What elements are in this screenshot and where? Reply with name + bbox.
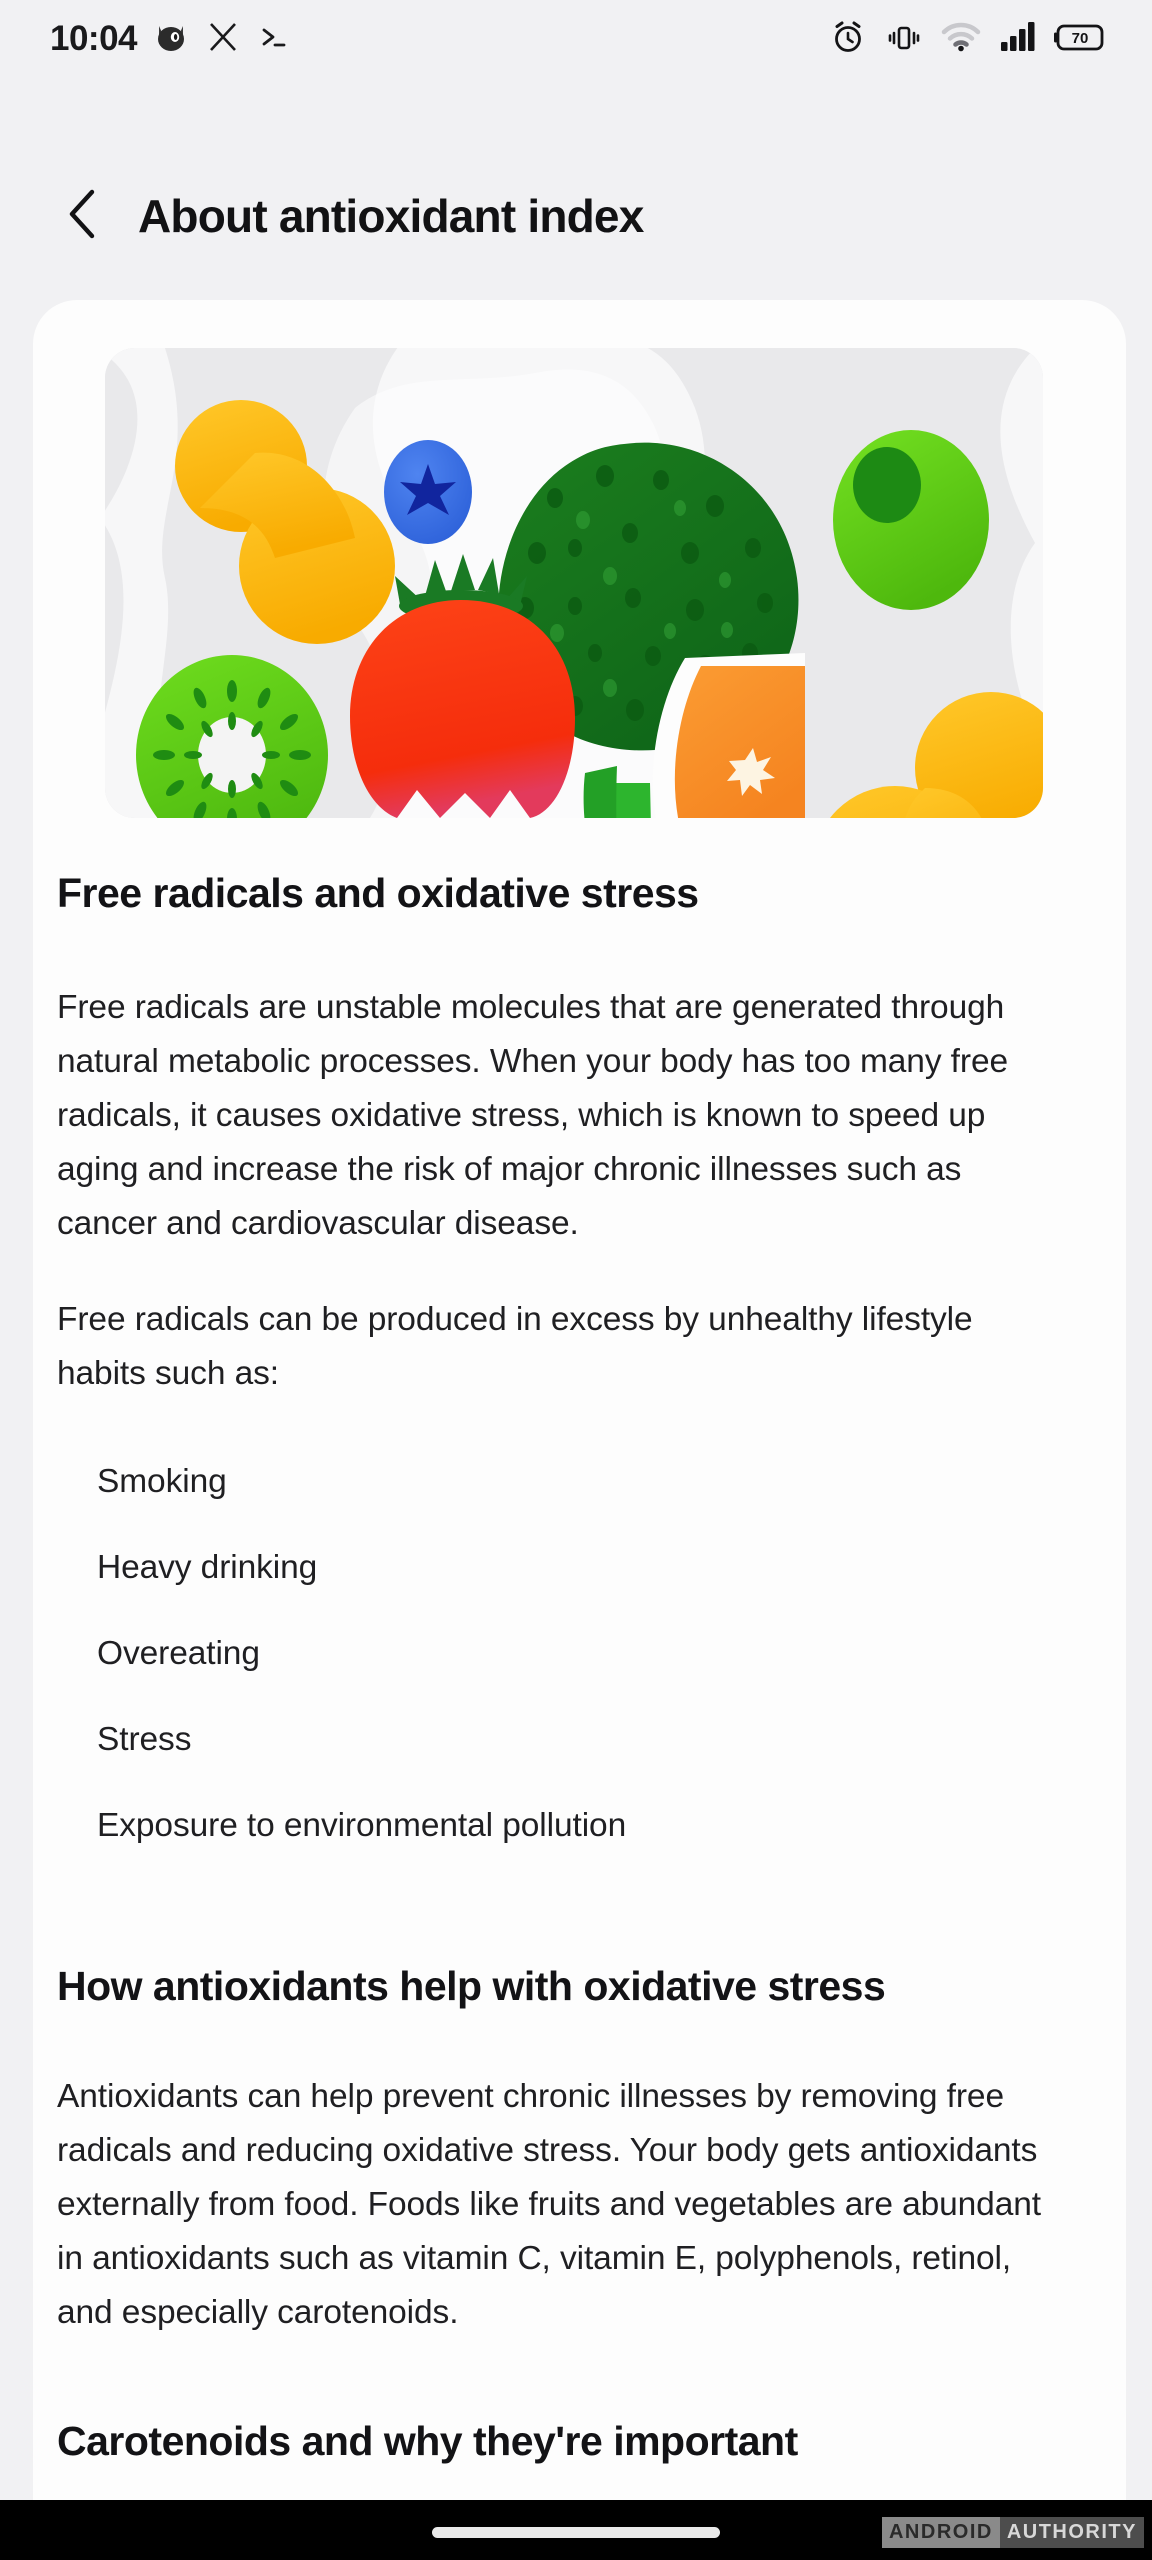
section-heading-free-radicals: Free radicals and oxidative stress [45, 870, 1108, 917]
watermark-authority: AUTHORITY [1000, 2517, 1144, 2548]
x-app-icon [205, 19, 241, 60]
spacer [45, 1885, 1108, 1963]
blueberry [384, 440, 472, 544]
back-button[interactable] [52, 185, 114, 247]
vibrate-icon [884, 17, 924, 62]
battery-icon: 70 [1052, 17, 1108, 62]
unhealthy-habits-list: Smoking Heavy drinking Overeating Stress… [45, 1455, 1108, 1853]
section-heading-how-antioxidants-help: How antioxidants help with oxidative str… [45, 1963, 1108, 2010]
spacer [45, 2340, 1108, 2418]
paragraph-free-radicals-definition: Free radicals are unstable molecules tha… [45, 981, 1065, 1251]
signal-icon [998, 17, 1036, 62]
spacer [45, 1401, 1108, 1455]
terminal-icon [255, 19, 291, 60]
spacer [45, 1251, 1108, 1293]
watermark: ANDROID AUTHORITY [882, 2517, 1144, 2548]
page-title: About antioxidant index [138, 189, 643, 243]
spacer [45, 917, 1108, 981]
chevron-left-icon [62, 187, 104, 246]
status-bar: 10:04 [0, 0, 1152, 78]
paragraph-unhealthy-habits-intro: Free radicals can be produced in excess … [45, 1293, 1065, 1401]
alarm-icon [828, 17, 868, 62]
watermark-android: ANDROID [882, 2517, 1000, 2548]
battery-level-text: 70 [1072, 30, 1089, 47]
status-clock: 10:04 [50, 19, 137, 59]
list-item: Smoking [97, 1455, 1108, 1509]
list-item: Heavy drinking [97, 1541, 1108, 1595]
article-body: Free radicals and oxidative stress Free … [33, 870, 1126, 2465]
status-bar-right: 70 [828, 17, 1108, 62]
spacer [45, 2010, 1108, 2070]
orange-slice [653, 653, 805, 818]
list-item: Overeating [97, 1627, 1108, 1681]
list-item: Exposure to environmental pollution [97, 1799, 1108, 1853]
list-item: Stress [97, 1713, 1108, 1767]
home-indicator[interactable] [432, 2527, 720, 2538]
app-header: About antioxidant index [0, 170, 1152, 262]
phone-screen: 10:04 [0, 0, 1152, 2560]
wifi-icon [940, 17, 982, 62]
status-bar-left: 10:04 [50, 17, 291, 62]
illustration-image [105, 348, 1043, 818]
content-card: Free radicals and oxidative stress Free … [33, 300, 1126, 2500]
green-olive [833, 430, 989, 610]
cat-app-icon [151, 17, 191, 62]
paragraph-antioxidants-help: Antioxidants can help prevent chronic il… [45, 2070, 1065, 2340]
section-heading-carotenoids: Carotenoids and why they're important [45, 2418, 1108, 2465]
